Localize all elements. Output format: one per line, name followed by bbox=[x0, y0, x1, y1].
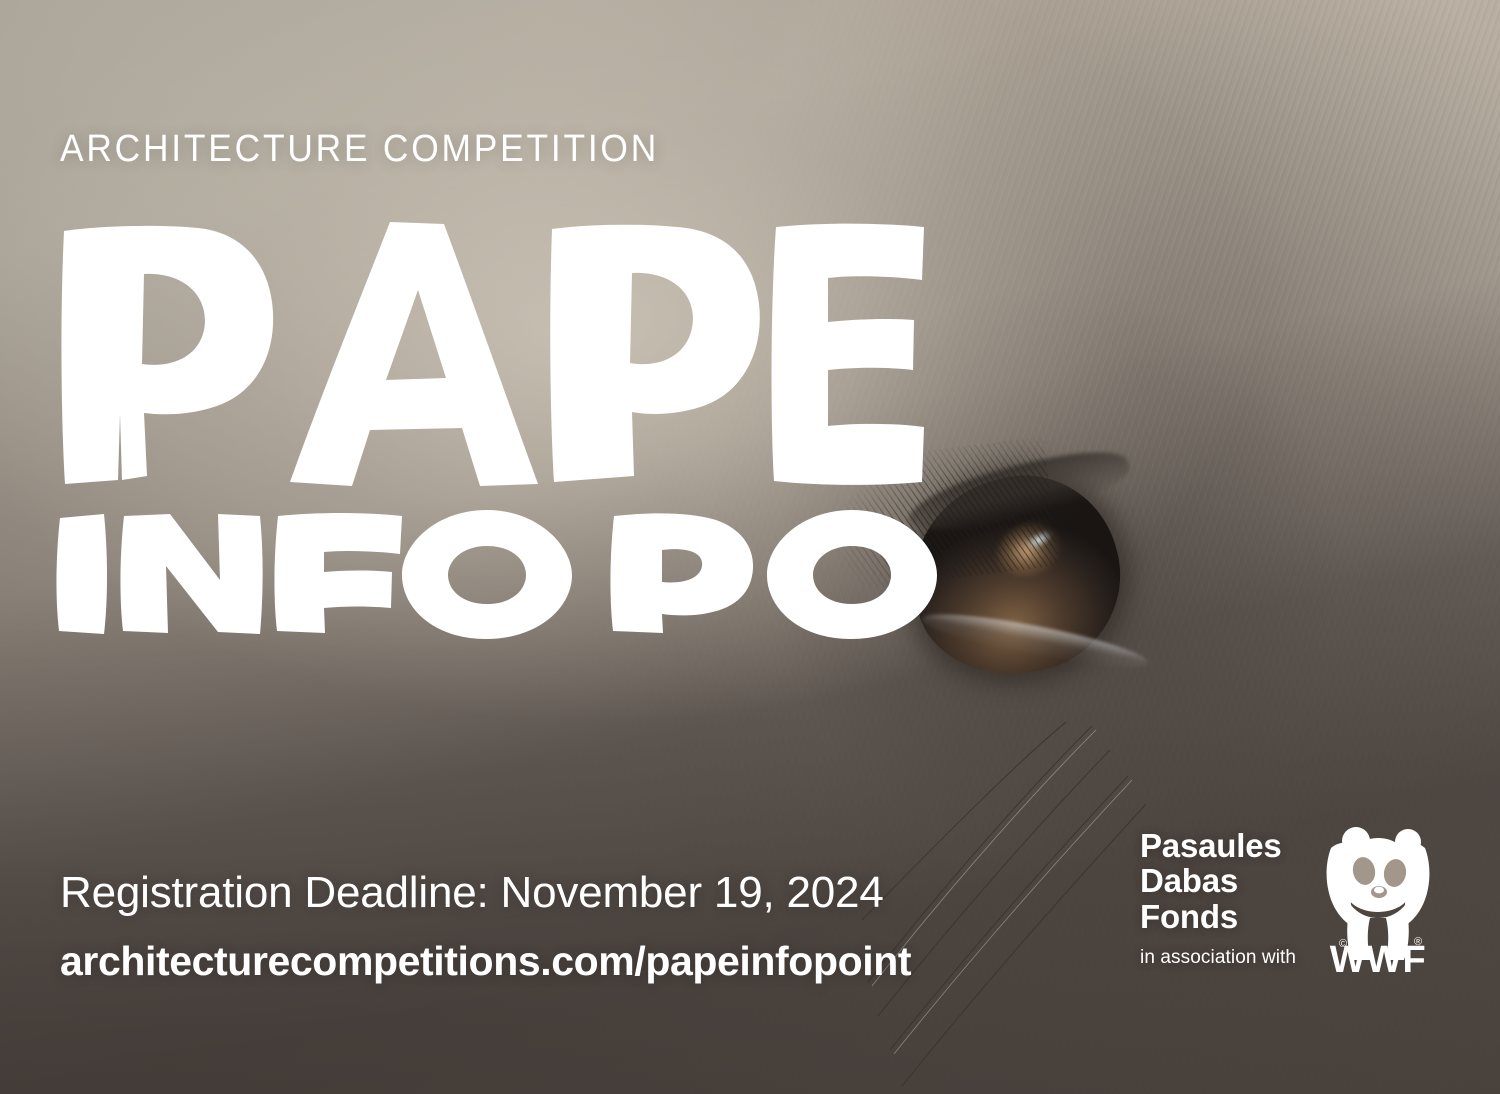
partner-name-line-1: Pasaules bbox=[1140, 828, 1296, 863]
partner-lockup: Pasaules Dabas Fonds in association with bbox=[1140, 826, 1434, 974]
competition-url-text[interactable]: architecturecompetitions.com/papeinfopoi… bbox=[60, 938, 911, 985]
partner-name-block: Pasaules Dabas Fonds in association with bbox=[1140, 826, 1296, 969]
kicker-text: ARCHITECTURE COMPETITION bbox=[60, 128, 659, 171]
poster-wordmark: PAPE bbox=[52, 218, 932, 638]
partner-name-line-2: Dabas bbox=[1140, 863, 1296, 898]
poster-canvas: ARCHITECTURE COMPETITION PAPE bbox=[0, 0, 1500, 1094]
association-note: in association with bbox=[1140, 947, 1296, 969]
wwf-wordmark: WWF bbox=[1330, 939, 1426, 974]
horse-eye bbox=[900, 430, 1240, 730]
partner-name-line-3: Fonds bbox=[1140, 899, 1296, 934]
wwf-panda-icon: © ® WWF bbox=[1322, 826, 1434, 974]
wordmark-line-infopoint bbox=[56, 510, 937, 639]
registration-deadline-text: Registration Deadline: November 19, 2024 bbox=[60, 868, 884, 918]
wordmark-line-pape bbox=[61, 222, 924, 486]
